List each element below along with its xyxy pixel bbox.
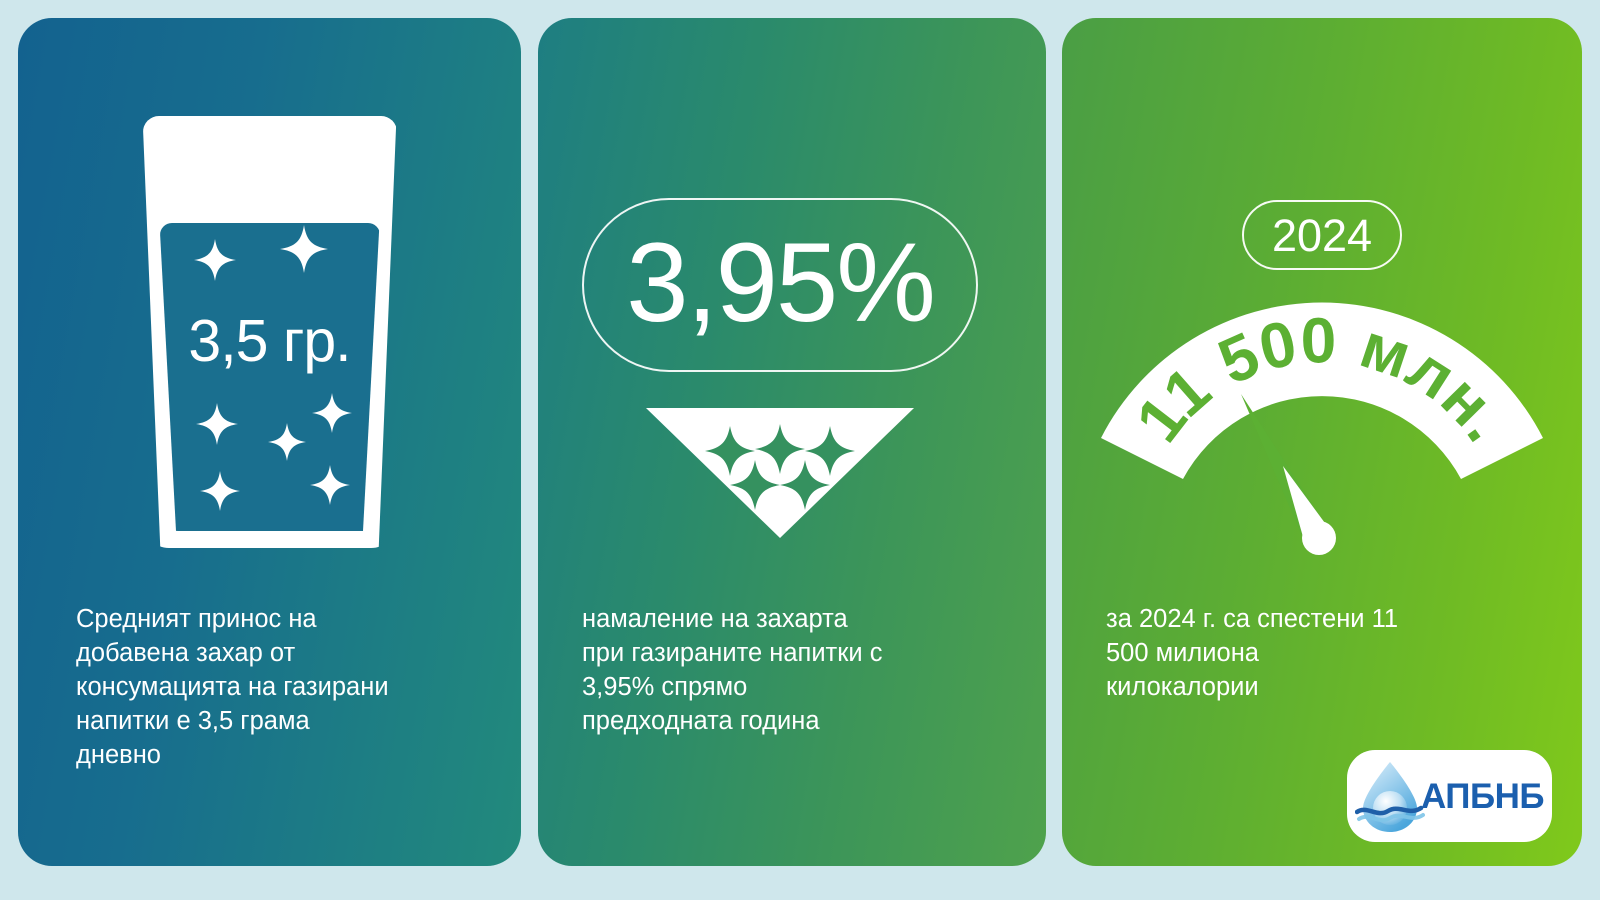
- sparkle-icon: [194, 239, 236, 281]
- percent-pill: 3,95%: [582, 198, 978, 372]
- glass-liquid: 3,5 гр.: [160, 223, 380, 531]
- card-caption: Средният принос на добавена захар от кон…: [76, 603, 396, 773]
- sparkle-icon: [200, 471, 240, 511]
- down-arrow-sparkles-icon: [646, 408, 914, 538]
- year-pill: 2024: [1242, 200, 1402, 270]
- stat-card-sugar-per-day: 3,5 гр.: [18, 18, 521, 866]
- sparkle-icon: [280, 225, 328, 273]
- percent-value-label: 3,95%: [584, 227, 976, 339]
- sparkle-icon: [310, 465, 350, 505]
- water-drop-icon: [1355, 758, 1425, 834]
- sparkle-icon: [312, 393, 352, 433]
- gauge-icon-area: 2024: [1062, 18, 1582, 578]
- sparkle-icon: [196, 403, 238, 445]
- percent-icon-area: 3,95%: [538, 18, 1046, 578]
- card-caption: намаление на захарта при газираните напи…: [582, 603, 892, 739]
- glass-icon-area: 3,5 гр.: [18, 18, 521, 578]
- apbnb-logo[interactable]: АПБНБ: [1347, 750, 1552, 842]
- card-caption: за 2024 г. са спестени 11 500 милиона ки…: [1106, 603, 1406, 705]
- sparkle-icon: [268, 423, 306, 461]
- drinking-glass-icon: 3,5 гр.: [143, 116, 397, 548]
- glass-value-label: 3,5 гр.: [160, 307, 380, 375]
- stat-card-sugar-reduction: 3,95% намаление на: [538, 18, 1046, 866]
- logo-text: АПБНБ: [1421, 779, 1544, 814]
- infographic-root: 3,5 гр.: [0, 0, 1600, 900]
- stat-card-calories-saved: 2024: [1062, 18, 1582, 866]
- year-label: 2024: [1272, 213, 1372, 258]
- gauge-icon: 11 500 млн.: [1087, 286, 1557, 556]
